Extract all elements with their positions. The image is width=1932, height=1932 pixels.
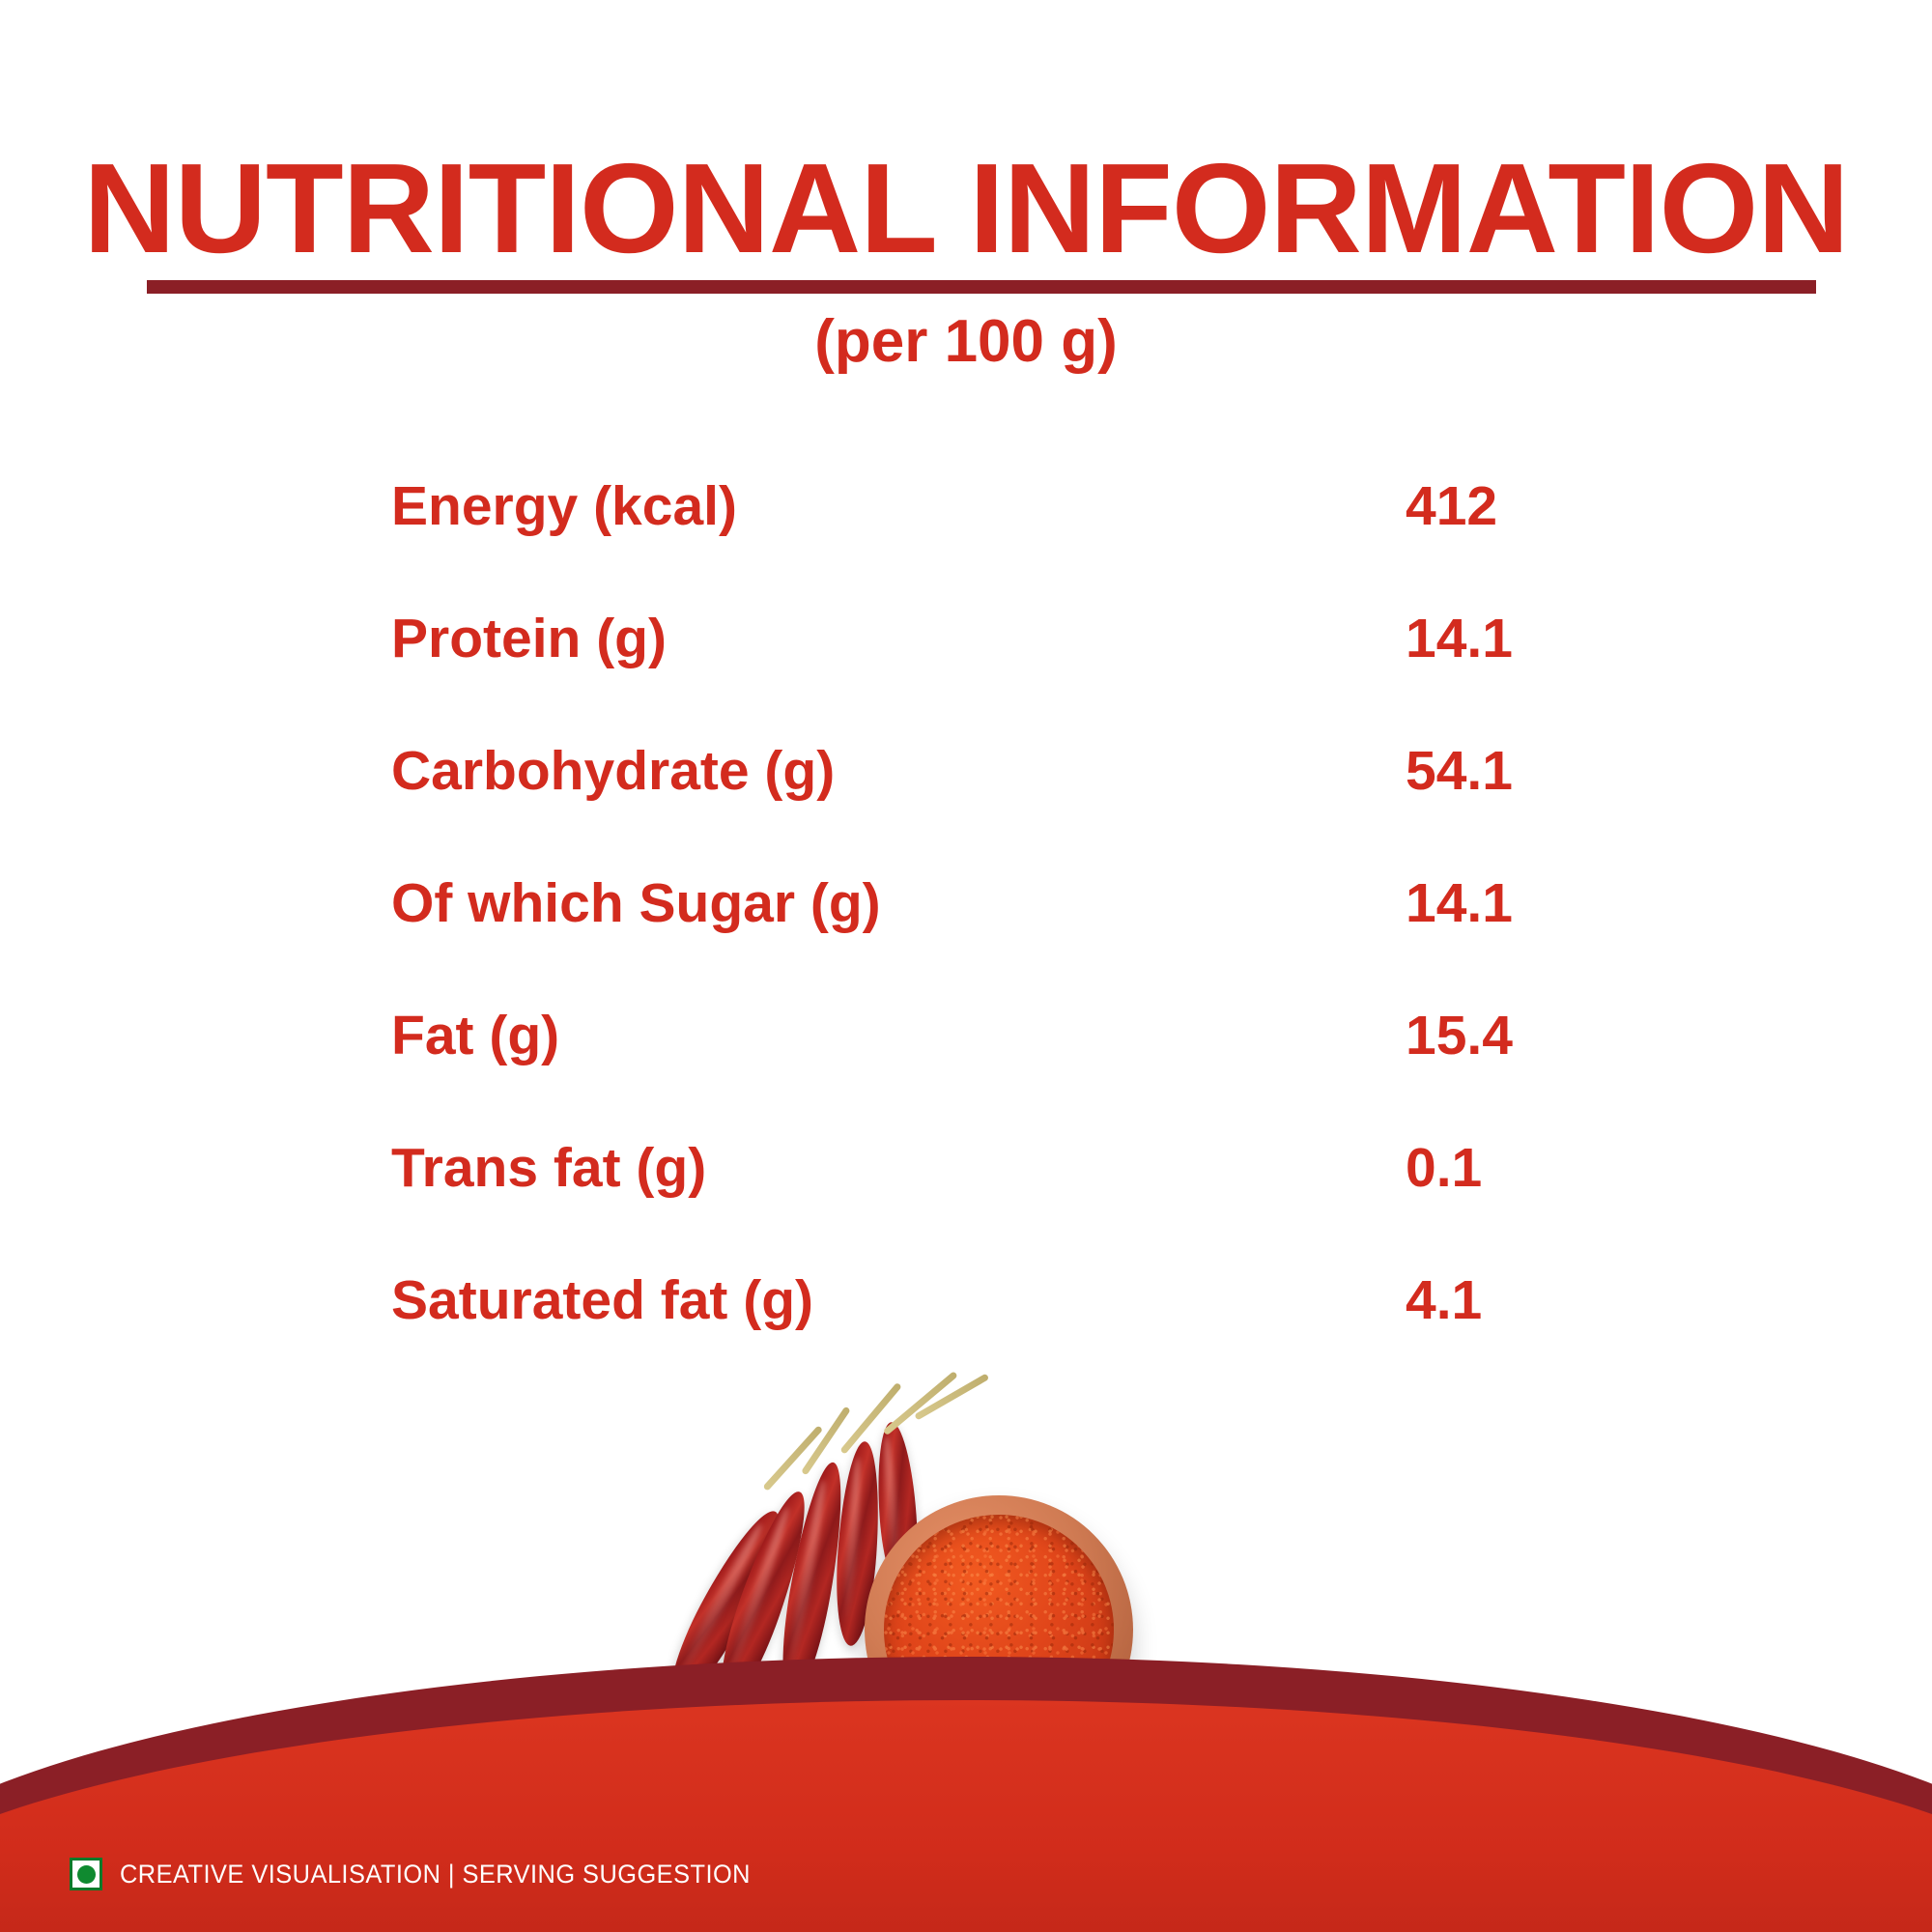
- nutrient-value: 412: [1406, 478, 1497, 536]
- nutrient-label: Saturated fat (g): [391, 1272, 813, 1330]
- table-row: Protein (g) 14.1: [391, 611, 1550, 743]
- nutrition-table: Energy (kcal) 412 Protein (g) 14.1 Carbo…: [391, 478, 1550, 1405]
- nutrient-value: 0.1: [1406, 1140, 1482, 1198]
- vegetarian-green-dot-icon: [77, 1865, 96, 1884]
- table-row: Fat (g) 15.4: [391, 1008, 1550, 1140]
- table-row: Of which Sugar (g) 14.1: [391, 875, 1550, 1008]
- nutrient-label: Energy (kcal): [391, 478, 737, 536]
- title-block: NUTRITIONAL INFORMATION: [0, 145, 1932, 272]
- nutrient-value: 14.1: [1406, 611, 1513, 668]
- nutrient-label: Carbohydrate (g): [391, 743, 835, 801]
- nutrient-value: 15.4: [1406, 1008, 1513, 1065]
- nutrient-label: Fat (g): [391, 1008, 559, 1065]
- nutrient-value: 54.1: [1406, 743, 1513, 801]
- table-row: Trans fat (g) 0.1: [391, 1140, 1550, 1272]
- nutrient-value: 4.1: [1406, 1272, 1482, 1330]
- footer-disclaimer-text: CREATIVE VISUALISATION | SERVING SUGGEST…: [120, 1860, 751, 1889]
- table-row: Energy (kcal) 412: [391, 478, 1550, 611]
- nutrient-value: 14.1: [1406, 875, 1513, 933]
- table-row: Carbohydrate (g) 54.1: [391, 743, 1550, 875]
- nutrient-label: Of which Sugar (g): [391, 875, 881, 933]
- nutrient-label: Protein (g): [391, 611, 667, 668]
- footer-bar: CREATIVE VISUALISATION | SERVING SUGGEST…: [0, 1816, 1932, 1932]
- nutrition-label-page: NUTRITIONAL INFORMATION (per 100 g) Ener…: [0, 0, 1932, 1932]
- page-subtitle: (per 100 g): [0, 309, 1932, 375]
- vegetarian-mark-icon: [70, 1858, 102, 1890]
- page-title: NUTRITIONAL INFORMATION: [0, 145, 1932, 272]
- title-underline-rule: [147, 280, 1816, 294]
- nutrient-label: Trans fat (g): [391, 1140, 706, 1198]
